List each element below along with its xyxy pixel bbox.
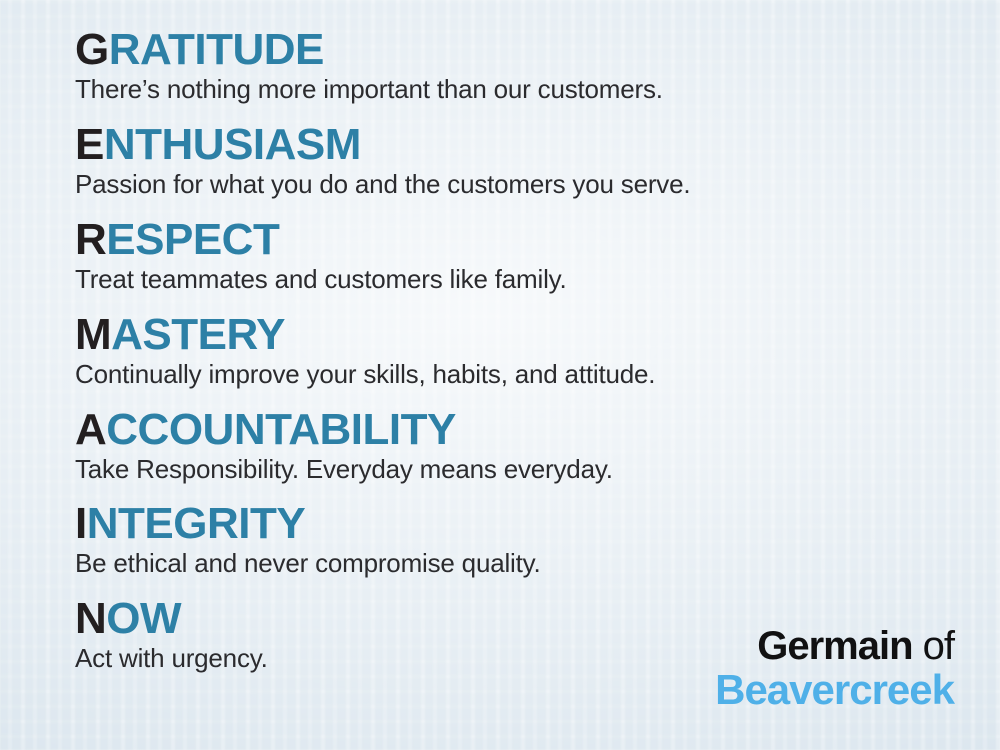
value-heading-gratitude: GRATITUDE — [75, 28, 955, 72]
logo-brand-name: Germain — [757, 624, 912, 668]
value-initial-letter: M — [75, 310, 111, 359]
value-item-respect: RESPECT Treat teammates and customers li… — [75, 218, 955, 295]
value-initial-letter: E — [75, 120, 104, 169]
value-heading-enthusiasm: ENTHUSIASM — [75, 123, 955, 167]
logo-connector-word: of — [913, 624, 954, 668]
value-initial-letter: R — [75, 215, 106, 264]
value-initial-letter: I — [75, 499, 87, 548]
logo-location-name: Beavercreek — [715, 668, 954, 712]
value-heading-respect: RESPECT — [75, 218, 955, 262]
value-heading-integrity: INTEGRITY — [75, 502, 955, 546]
value-heading-remainder: OW — [106, 594, 181, 643]
value-heading-mastery: MASTERY — [75, 313, 955, 357]
value-heading-remainder: NTEGRITY — [87, 499, 305, 548]
values-poster: GRATITUDE There’s nothing more important… — [0, 0, 1000, 750]
value-description-gratitude: There’s nothing more important than our … — [75, 75, 955, 105]
logo-primary-line: Germain of — [715, 625, 954, 667]
value-heading-accountability: ACCOUNTABILITY — [75, 408, 955, 452]
company-logo: Germain of Beavercreek — [715, 625, 954, 712]
value-description-respect: Treat teammates and customers like famil… — [75, 265, 955, 295]
value-item-gratitude: GRATITUDE There’s nothing more important… — [75, 28, 955, 105]
value-heading-remainder: CCOUNTABILITY — [106, 405, 456, 454]
value-description-mastery: Continually improve your skills, habits,… — [75, 360, 955, 390]
value-heading-remainder: NTHUSIASM — [104, 120, 361, 169]
value-description-enthusiasm: Passion for what you do and the customer… — [75, 170, 955, 200]
poster-content: GRATITUDE There’s nothing more important… — [0, 0, 1000, 750]
value-description-accountability: Take Responsibility. Everyday means ever… — [75, 455, 955, 485]
value-heading-remainder: ESPECT — [106, 215, 279, 264]
core-values-list: GRATITUDE There’s nothing more important… — [75, 28, 955, 674]
value-item-enthusiasm: ENTHUSIASM Passion for what you do and t… — [75, 123, 955, 200]
value-description-integrity: Be ethical and never compromise quality. — [75, 549, 955, 579]
value-item-integrity: INTEGRITY Be ethical and never compromis… — [75, 502, 955, 579]
value-item-mastery: MASTERY Continually improve your skills,… — [75, 313, 955, 390]
value-initial-letter: A — [75, 405, 106, 454]
value-initial-letter: N — [75, 594, 106, 643]
value-initial-letter: G — [75, 25, 109, 74]
value-heading-remainder: ASTERY — [111, 310, 285, 359]
value-item-accountability: ACCOUNTABILITY Take Responsibility. Ever… — [75, 408, 955, 485]
value-heading-remainder: RATITUDE — [109, 25, 324, 74]
